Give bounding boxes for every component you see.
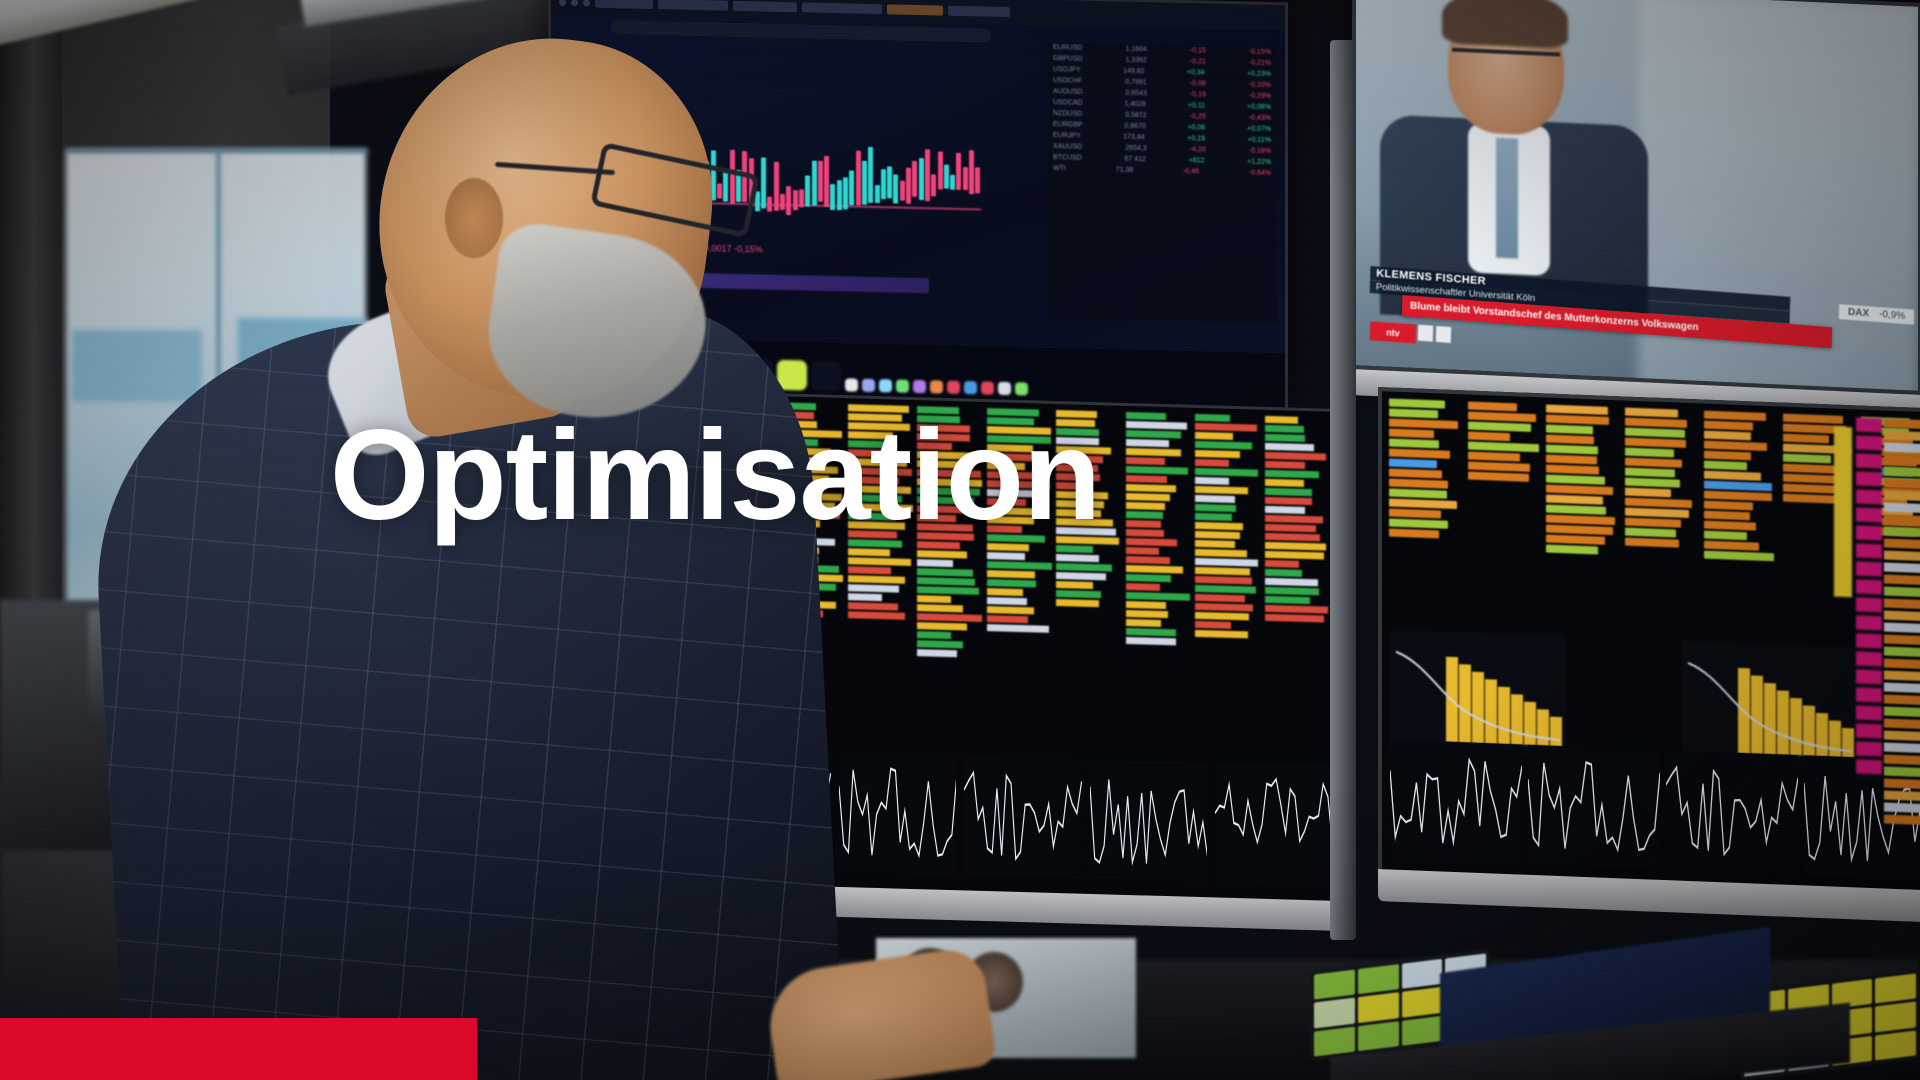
data-cell <box>1265 587 1320 596</box>
browser-tab <box>733 1 797 12</box>
symbol-row[interactable] <box>1884 514 1920 525</box>
symbol-row[interactable] <box>1884 730 1920 741</box>
dock-icon[interactable] <box>879 379 892 392</box>
symbol-row[interactable] <box>1884 610 1920 621</box>
data-cell <box>1704 501 1753 511</box>
data-cell <box>1195 567 1250 576</box>
data-cell <box>1126 574 1171 582</box>
dock-icon[interactable] <box>1015 382 1028 395</box>
monitor-tv-news-broadcast: KLEMENS FISCHER Politikwissenschaftler U… <box>1352 0 1920 395</box>
decline-curve <box>1686 657 1854 753</box>
data-cell <box>1126 601 1166 609</box>
data-cell <box>1195 585 1256 594</box>
alert-column <box>1856 417 1882 778</box>
data-cell <box>1704 541 1760 551</box>
data-cell <box>1468 471 1529 481</box>
symbol-row[interactable] <box>1884 754 1920 765</box>
index-change: -0,9% <box>1879 309 1905 322</box>
symbol-row[interactable] <box>1884 490 1920 501</box>
candle <box>931 174 936 196</box>
symbol-row[interactable] <box>1884 622 1920 633</box>
accent-bar <box>0 1018 477 1080</box>
data-cell <box>1265 605 1328 614</box>
data-cell <box>1625 508 1689 518</box>
symbol-list <box>1884 418 1920 840</box>
dock-icon[interactable] <box>981 381 994 394</box>
data-cell <box>917 559 953 567</box>
bar-chart-panel <box>1682 641 1858 768</box>
data-cell <box>917 550 966 558</box>
symbol-row[interactable] <box>1884 562 1920 573</box>
data-cell <box>1704 461 1747 471</box>
sparkline <box>1666 750 1798 875</box>
browser-tab <box>887 4 943 15</box>
browser-tab <box>658 0 728 11</box>
data-cell <box>1704 471 1761 481</box>
window-dot <box>559 0 566 6</box>
candle <box>887 166 892 199</box>
data-cell <box>917 640 963 648</box>
symbol-row[interactable] <box>1884 778 1920 789</box>
candle <box>938 152 943 190</box>
symbol-row[interactable] <box>1884 466 1920 477</box>
channel-logo: ntv <box>1370 321 1417 343</box>
data-cell <box>1625 538 1679 548</box>
symbol-row[interactable] <box>1884 742 1920 753</box>
data-cell <box>848 575 905 584</box>
data-cell <box>1546 495 1602 505</box>
data-cell <box>1704 521 1756 531</box>
symbol-row[interactable] <box>1884 598 1920 609</box>
data-cell <box>1056 563 1112 572</box>
data-cell <box>1126 592 1191 601</box>
data-cell <box>1468 401 1517 411</box>
candle <box>912 161 917 197</box>
data-cell <box>1195 630 1248 638</box>
data-cell <box>1625 448 1674 458</box>
symbol-row[interactable] <box>1884 718 1920 729</box>
symbol-row[interactable] <box>1884 646 1920 657</box>
data-cell <box>1265 578 1318 586</box>
symbol-row[interactable] <box>1884 550 1920 561</box>
candle <box>856 151 861 206</box>
symbol-row[interactable] <box>1884 538 1920 549</box>
data-cell <box>1126 556 1170 564</box>
data-cell <box>1546 445 1598 455</box>
candle <box>919 158 924 200</box>
symbol-row[interactable] <box>1884 706 1920 717</box>
candle <box>944 164 949 189</box>
data-cell <box>848 611 905 620</box>
data-column <box>1546 405 1622 624</box>
data-cell <box>1783 414 1844 424</box>
sparkline <box>1215 762 1333 885</box>
data-cell <box>1625 418 1687 428</box>
monitor-right-market-data <box>1378 387 1920 899</box>
symbol-row[interactable] <box>1884 802 1920 813</box>
data-cell <box>1056 599 1099 607</box>
dock-icon[interactable] <box>896 380 909 393</box>
data-cell <box>1468 451 1521 461</box>
browser-tab <box>802 2 882 14</box>
data-cell <box>1704 411 1766 421</box>
symbol-row[interactable] <box>1884 574 1920 585</box>
data-cell <box>1195 594 1245 602</box>
data-cell <box>987 597 1027 605</box>
candle <box>950 175 955 190</box>
data-cell <box>1625 498 1692 509</box>
data-cell <box>987 552 1025 560</box>
data-cell <box>917 577 975 586</box>
bar-chart-panel <box>1390 630 1566 757</box>
symbol-row[interactable] <box>1884 682 1920 693</box>
data-cell <box>1704 531 1747 541</box>
candle <box>900 180 905 201</box>
dock-icon[interactable] <box>964 381 977 394</box>
data-cell <box>848 557 911 566</box>
person-trader <box>95 18 855 1080</box>
symbol-row[interactable] <box>1884 418 1920 429</box>
data-cell <box>1265 560 1300 568</box>
data-cell <box>1126 565 1183 574</box>
browser-tab <box>948 6 1010 17</box>
data-cell <box>1126 547 1160 555</box>
data-cell <box>1704 491 1772 502</box>
candle <box>975 167 980 193</box>
data-cell <box>1195 612 1248 620</box>
symbol-row[interactable] <box>1884 670 1920 681</box>
data-cell <box>1195 576 1251 585</box>
data-cell <box>1704 431 1751 441</box>
data-cell <box>1783 434 1830 444</box>
symbol-row[interactable] <box>1884 814 1920 825</box>
data-cell <box>1126 583 1161 591</box>
browser-tab <box>595 0 653 9</box>
dock-icon[interactable] <box>998 382 1011 395</box>
data-cell <box>917 604 963 612</box>
symbol-row[interactable] <box>1884 430 1920 441</box>
data-cell <box>1056 572 1105 580</box>
data-cell <box>1265 551 1324 560</box>
data-cell <box>987 570 1035 578</box>
candle <box>956 152 961 189</box>
data-cell <box>1195 540 1235 548</box>
window-dot <box>571 0 578 6</box>
symbol-row[interactable] <box>1884 634 1920 645</box>
data-cell <box>1126 628 1176 636</box>
data-cell <box>1546 435 1594 445</box>
data-cell <box>1625 478 1680 488</box>
page-title: Optimisation <box>0 412 1430 540</box>
data-cell <box>917 631 951 639</box>
sparkline <box>839 752 957 875</box>
dock-icon[interactable] <box>930 380 943 393</box>
data-cell <box>1195 549 1246 557</box>
data-cell <box>1546 455 1596 465</box>
data-cell <box>1704 421 1753 431</box>
candle <box>881 169 886 200</box>
data-cell <box>1546 505 1606 515</box>
decline-curve <box>1394 646 1562 742</box>
data-cell <box>1265 569 1303 577</box>
data-cell <box>917 613 982 622</box>
ear <box>445 178 503 258</box>
data-cell <box>848 584 899 592</box>
candle <box>862 161 867 205</box>
candle <box>868 147 873 203</box>
data-column <box>1468 401 1544 620</box>
symbol-row[interactable] <box>1884 478 1920 489</box>
data-cell <box>1546 545 1598 555</box>
data-cell <box>1625 428 1685 438</box>
symbol-row[interactable] <box>1884 766 1920 777</box>
data-cell <box>917 649 957 657</box>
data-cell <box>1195 621 1231 629</box>
sparkline <box>1528 745 1660 870</box>
data-cell <box>1126 610 1168 618</box>
data-cell <box>1546 425 1592 435</box>
data-cell <box>1126 619 1162 627</box>
symbol-row[interactable] <box>1884 502 1920 513</box>
sparkline <box>964 755 1082 878</box>
data-cell <box>1195 558 1258 567</box>
symbol-row[interactable] <box>1884 454 1920 465</box>
data-cell <box>1546 465 1598 475</box>
dock-icon[interactable] <box>862 379 875 392</box>
data-cell <box>917 622 967 630</box>
data-cell <box>1546 515 1614 526</box>
sparkline <box>1390 740 1522 865</box>
data-cell <box>917 595 951 603</box>
data-cell <box>1625 528 1676 538</box>
window-dot <box>583 0 590 6</box>
data-cell <box>1704 441 1767 451</box>
data-cell <box>1265 542 1327 551</box>
sparkline-row <box>1382 739 1920 881</box>
candle <box>969 150 974 195</box>
data-cell <box>1468 411 1536 422</box>
dock-icon[interactable] <box>947 381 960 394</box>
data-cell <box>1625 438 1686 448</box>
data-cell <box>1625 518 1681 528</box>
data-cell <box>1704 451 1751 461</box>
index-label: DAX <box>1848 307 1869 320</box>
data-cell <box>1625 488 1671 498</box>
symbol-row[interactable] <box>1884 658 1920 669</box>
data-cell <box>1625 458 1682 468</box>
data-cell <box>1704 511 1750 521</box>
candle <box>875 185 880 202</box>
quote-list-panel: EURUSD1,1604-0,15-0,15%GBPUSD1,3382-0,21… <box>1047 42 1277 323</box>
data-cell <box>987 606 1034 614</box>
symbol-row[interactable] <box>1884 694 1920 705</box>
data-cell <box>1265 614 1325 623</box>
data-cell <box>1468 431 1510 441</box>
symbol-row[interactable] <box>1884 526 1920 537</box>
data-cell <box>1389 398 1445 408</box>
data-cell <box>1704 551 1775 562</box>
data-cell <box>1056 590 1100 598</box>
candle <box>893 174 898 204</box>
data-cell <box>1126 637 1176 645</box>
symbol-row[interactable] <box>1884 790 1920 801</box>
data-cell <box>848 602 898 610</box>
highlight-column <box>1834 427 1852 598</box>
candle <box>906 168 911 204</box>
data-cell <box>1056 581 1093 589</box>
data-cell <box>1783 454 1831 464</box>
data-cell <box>1546 485 1613 496</box>
data-cell <box>987 624 1050 633</box>
data-cell <box>987 615 1028 623</box>
data-cell <box>1625 468 1675 478</box>
broadcast-guest-hair <box>1442 0 1568 49</box>
data-cell <box>987 579 1036 587</box>
symbol-row[interactable] <box>1884 442 1920 453</box>
data-cell <box>917 568 973 577</box>
data-cell <box>987 588 1023 596</box>
broadcast-guest-tie <box>1496 138 1518 259</box>
data-cell <box>1546 535 1605 545</box>
data-column <box>1704 411 1780 630</box>
data-cell <box>1468 421 1531 431</box>
candle <box>925 149 930 201</box>
data-cell <box>1546 525 1613 536</box>
data-cell <box>1546 475 1604 485</box>
data-cell <box>1546 415 1608 425</box>
data-cell <box>1195 603 1253 612</box>
dock-icon[interactable] <box>913 380 926 393</box>
data-cell <box>917 586 978 595</box>
data-cell <box>1625 408 1678 418</box>
symbol-row[interactable] <box>1884 586 1920 597</box>
data-cell <box>1468 461 1530 471</box>
screenshot-root: EURUSD1,1604-0,15-0,15%GBPUSD1,3382-0,21… <box>0 0 1920 1080</box>
sparkline <box>1090 759 1208 882</box>
data-cell <box>1546 405 1608 415</box>
data-cell <box>1783 494 1839 504</box>
data-cell <box>1704 481 1773 492</box>
ticker-blocks <box>1418 325 1451 343</box>
data-column <box>1625 408 1701 627</box>
data-cell <box>1056 554 1099 562</box>
data-cell <box>987 561 1052 570</box>
data-cell <box>1468 441 1540 452</box>
data-cell <box>1265 596 1310 604</box>
candle <box>963 167 968 190</box>
